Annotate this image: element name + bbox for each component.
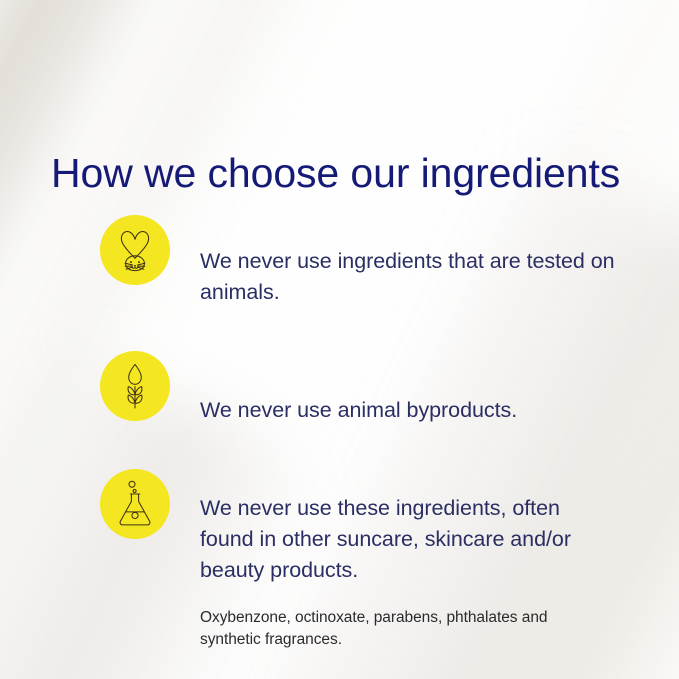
list-item: We never use these ingredients, often fo…: [0, 469, 679, 667]
promise-text-block: We never use these ingredients, often fo…: [200, 469, 679, 667]
erlenmeyer-flask-icon: [114, 480, 156, 528]
icon-badge-cruelty-free: [100, 215, 170, 285]
promise-statement: We never use these ingredients, often fo…: [200, 491, 617, 586]
bunny-heart-ears-icon: [113, 227, 157, 273]
content-layer: How we choose our ingredients: [0, 0, 679, 679]
promise-statement: We never use ingredients that are tested…: [200, 237, 617, 308]
icon-badge-no-harmful-ingredients: [100, 469, 170, 539]
icon-badge-no-animal-byproducts: [100, 351, 170, 421]
promise-text-block: We never use animal byproducts.: [200, 351, 679, 447]
promise-ingredient-note: Oxybenzone, octinoxate, parabens, phthal…: [200, 607, 560, 651]
plant-sprig-droplet-icon: [115, 362, 155, 410]
list-item: We never use ingredients that are tested…: [0, 215, 679, 329]
promise-text-block: We never use ingredients that are tested…: [200, 215, 679, 329]
list-item: We never use animal byproducts.: [0, 351, 679, 447]
promise-list: We never use ingredients that are tested…: [0, 215, 679, 667]
page-title: How we choose our ingredients: [51, 151, 620, 197]
promise-statement: We never use animal byproducts.: [200, 373, 617, 426]
infographic-canvas: How we choose our ingredients: [0, 0, 679, 679]
